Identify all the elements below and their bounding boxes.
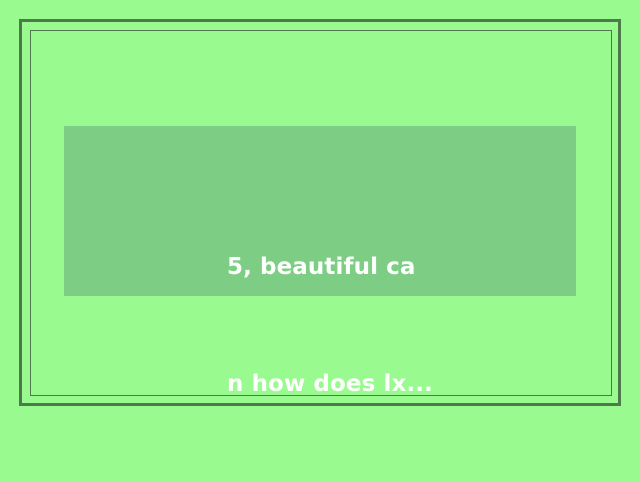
panel-text-line-1: 5, beautiful ca [227,248,567,287]
panel-text-line-2: n how does lx... [227,365,567,404]
card-canvas: 5, beautiful ca n how does lx... [0,0,640,425]
content-panel: 5, beautiful ca n how does lx... [64,126,576,296]
panel-text-block: 5, beautiful ca n how does lx... [227,170,567,482]
